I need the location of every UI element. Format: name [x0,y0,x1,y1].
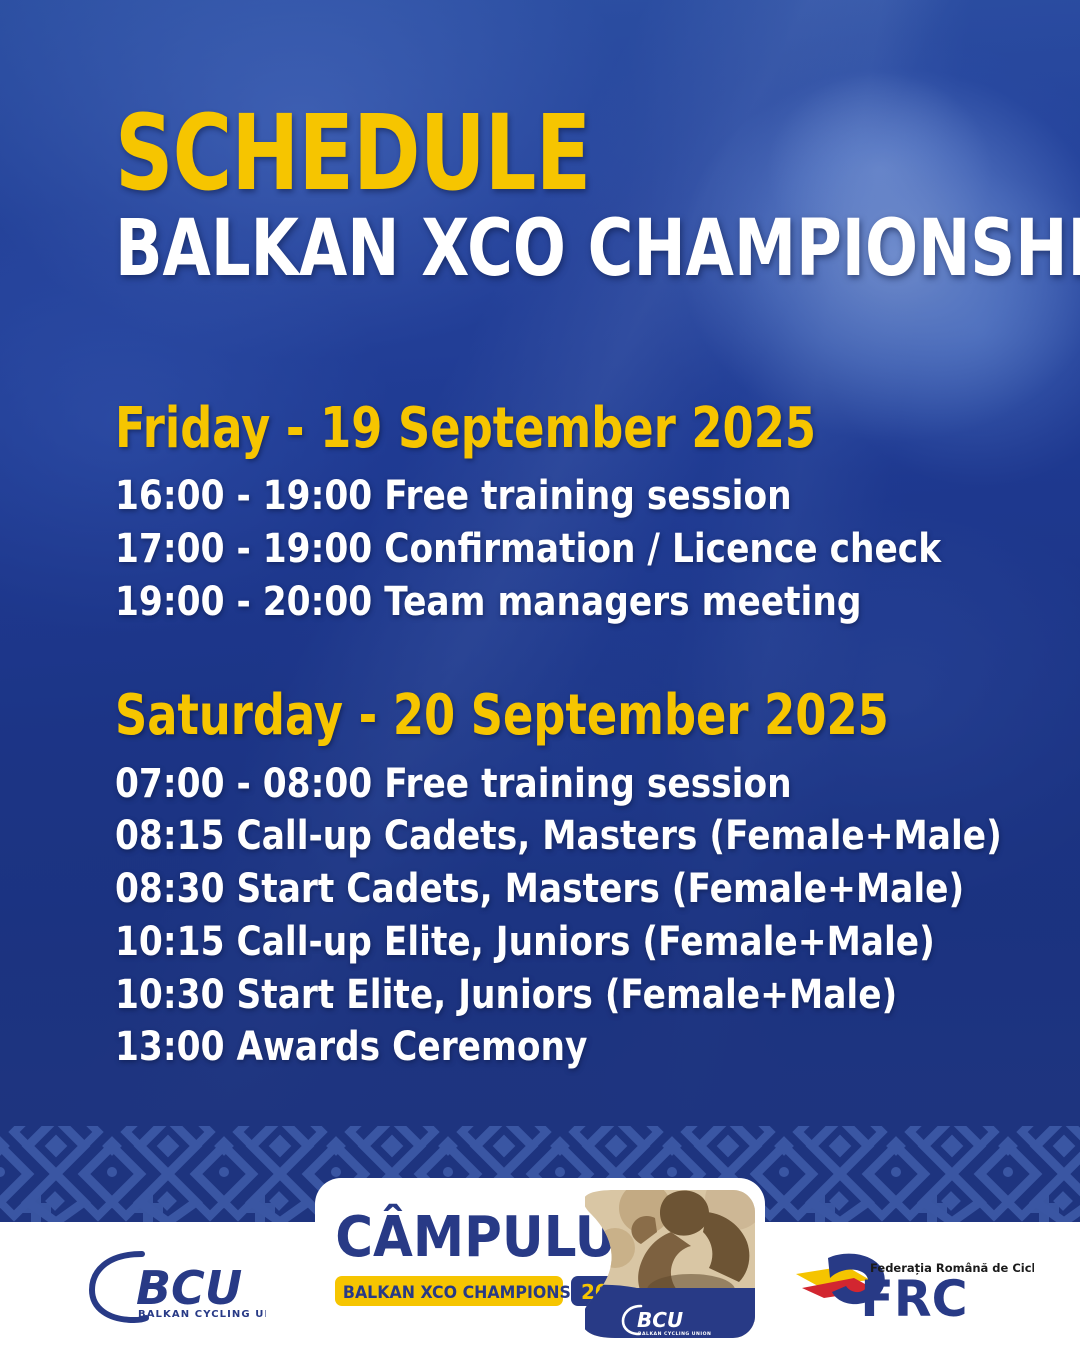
schedule-entry: 16:00 - 19:00 Free training session [115,470,889,523]
poster-content: SCHEDULE BALKAN XCO CHAMPIONSHIPS Friday… [115,0,1015,1074]
title-block: SCHEDULE BALKAN XCO CHAMPIONSHIPS [115,0,1015,288]
frc-logo[interactable]: Federația Română de Ciclism FRC [784,1244,1034,1328]
page-subtitle: BALKAN XCO CHAMPIONSHIPS [115,210,835,288]
schedule-entry: 10:15 Call-up Elite, Juniors (Female+Mal… [115,916,889,969]
day-heading-friday: Friday - 19 September 2025 [115,400,835,459]
schedule-entry: 13:00 Awards Ceremony [115,1021,889,1074]
day-heading-saturday: Saturday - 20 September 2025 [115,687,835,746]
schedule-entry: 19:00 - 20:00 Team managers meeting [115,576,889,629]
frc-acronym: FRC [860,1270,967,1328]
schedule-poster: SCHEDULE BALKAN XCO CHAMPIONSHIPS Friday… [0,0,1080,1350]
bcu-tagline: BALKAN CYCLING UNION [138,1309,266,1320]
event-bcu-tagline: BALKAN CYCLING UNION [638,1331,711,1337]
bcu-logo[interactable]: BCU BALKAN CYCLING UNION [86,1244,266,1330]
page-title: SCHEDULE [115,108,817,200]
day-group-friday: Friday - 19 September 2025 16:00 - 19:00… [115,400,1015,629]
schedule-entry: 07:00 - 08:00 Free training session [115,758,889,811]
schedule-entry: 08:15 Call-up Cadets, Masters (Female+Ma… [115,810,889,863]
bcu-acronym: BCU [136,1261,242,1315]
schedule-entry: 10:30 Start Elite, Juniors (Female+Male) [115,969,889,1022]
event-logo-card[interactable]: CÂMPULUNG BALKAN XCO CHAMPIONSHIPS 2025 [315,1178,765,1350]
day-group-saturday: Saturday - 20 September 2025 07:00 - 08:… [115,687,1015,1075]
schedule-entry: 17:00 - 19:00 Confirmation / Licence che… [115,523,889,576]
schedule-entry: 08:30 Start Cadets, Masters (Female+Male… [115,863,889,916]
event-bcu-acronym: BCU [637,1308,683,1332]
